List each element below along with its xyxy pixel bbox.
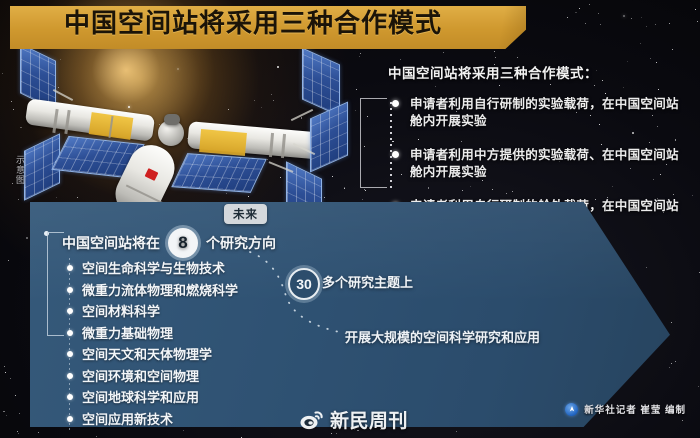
cooperation-mode-item: 申请者利用自行研制的实验载荷，在中国空间站舱内开展实验	[388, 96, 688, 130]
bullet-dot-icon	[67, 351, 73, 357]
list-item: 空间生命科学与生物技术	[62, 258, 322, 280]
bullet-dot-icon	[67, 373, 73, 379]
bullet-dot-icon	[392, 151, 399, 158]
direction-label: 微重力流体物理和燃烧科学	[82, 283, 238, 298]
bullet-dot-icon	[67, 416, 73, 422]
xinhua-logo-icon	[565, 403, 578, 416]
cooperation-mode-text: 申请者利用中方提供的实验载荷、在中国空间站舱内开展实验	[410, 147, 688, 181]
list-item: 空间材料科学	[62, 301, 322, 323]
direction-label: 空间应用新技术	[82, 412, 173, 427]
bullet-dot-icon	[67, 330, 73, 336]
cooperation-bracket	[360, 98, 390, 186]
bullet-dot-icon	[67, 287, 73, 293]
bracket-line	[360, 98, 387, 188]
direction-label: 空间天文和天体物理学	[82, 347, 212, 362]
cooperation-mode-item: 申请者利用中方提供的实验载荷、在中国空间站舱内开展实验	[388, 147, 688, 181]
direction-label: 空间生命科学与生物技术	[82, 261, 225, 276]
weibo-watermark: 新民周刊	[300, 406, 408, 433]
cooperation-mode-text: 申请者利用自行研制的实验载荷，在中国空间站舱内开展实验	[410, 96, 688, 130]
bullet-dot-icon	[67, 394, 73, 400]
watermark-label: 新民周刊	[330, 406, 408, 433]
research-headline: 中国空间站将在 8 个研究方向	[62, 228, 276, 258]
direction-label: 空间地球科学和应用	[82, 390, 199, 405]
weibo-icon	[300, 410, 324, 430]
conclusion-label: 开展大规模的空间科学研究和应用	[345, 327, 540, 346]
bullet-dot-icon	[67, 308, 73, 314]
schematic-label: 示意图	[14, 155, 25, 185]
cooperation-heading: 中国空间站将采用三种合作模式：	[388, 62, 688, 82]
infographic-canvas: 示意图 中国空间站将采用三种合作模式 中国空间站将采用三种合作模式： 申请者利用…	[0, 0, 700, 438]
headline-prefix: 中国空间站将在	[62, 233, 160, 253]
research-directions-list: 空间生命科学与生物技术 微重力流体物理和燃烧科学 空间材料科学 微重力基础物理 …	[62, 258, 322, 430]
list-item: 空间应用新技术	[62, 409, 322, 431]
topics-count-badge: 30	[288, 268, 320, 300]
direction-label: 微重力基础物理	[82, 326, 173, 341]
bullet-dot-icon	[392, 100, 399, 107]
page-title: 中国空间站将采用三种合作模式	[0, 0, 506, 43]
direction-label: 空间材料科学	[82, 304, 160, 319]
list-item: 空间地球科学和应用	[62, 387, 322, 409]
direction-label: 空间环境和空间物理	[82, 369, 199, 384]
credit-block: 新华社记者 崔莹 编制	[565, 402, 686, 416]
future-tag: 未来	[224, 204, 267, 224]
credit-label: 新华社记者 崔莹 编制	[584, 402, 686, 416]
headline-suffix: 个研究方向	[206, 233, 276, 253]
list-item: 微重力基础物理	[62, 323, 322, 345]
directions-count-badge: 8	[168, 228, 198, 258]
topics-label: 多个研究主题上	[322, 272, 413, 291]
list-item: 微重力流体物理和燃烧科学	[62, 280, 322, 302]
bullet-dot-icon	[67, 265, 73, 271]
list-item: 空间环境和空间物理	[62, 366, 322, 388]
list-item: 空间天文和天体物理学	[62, 344, 322, 366]
